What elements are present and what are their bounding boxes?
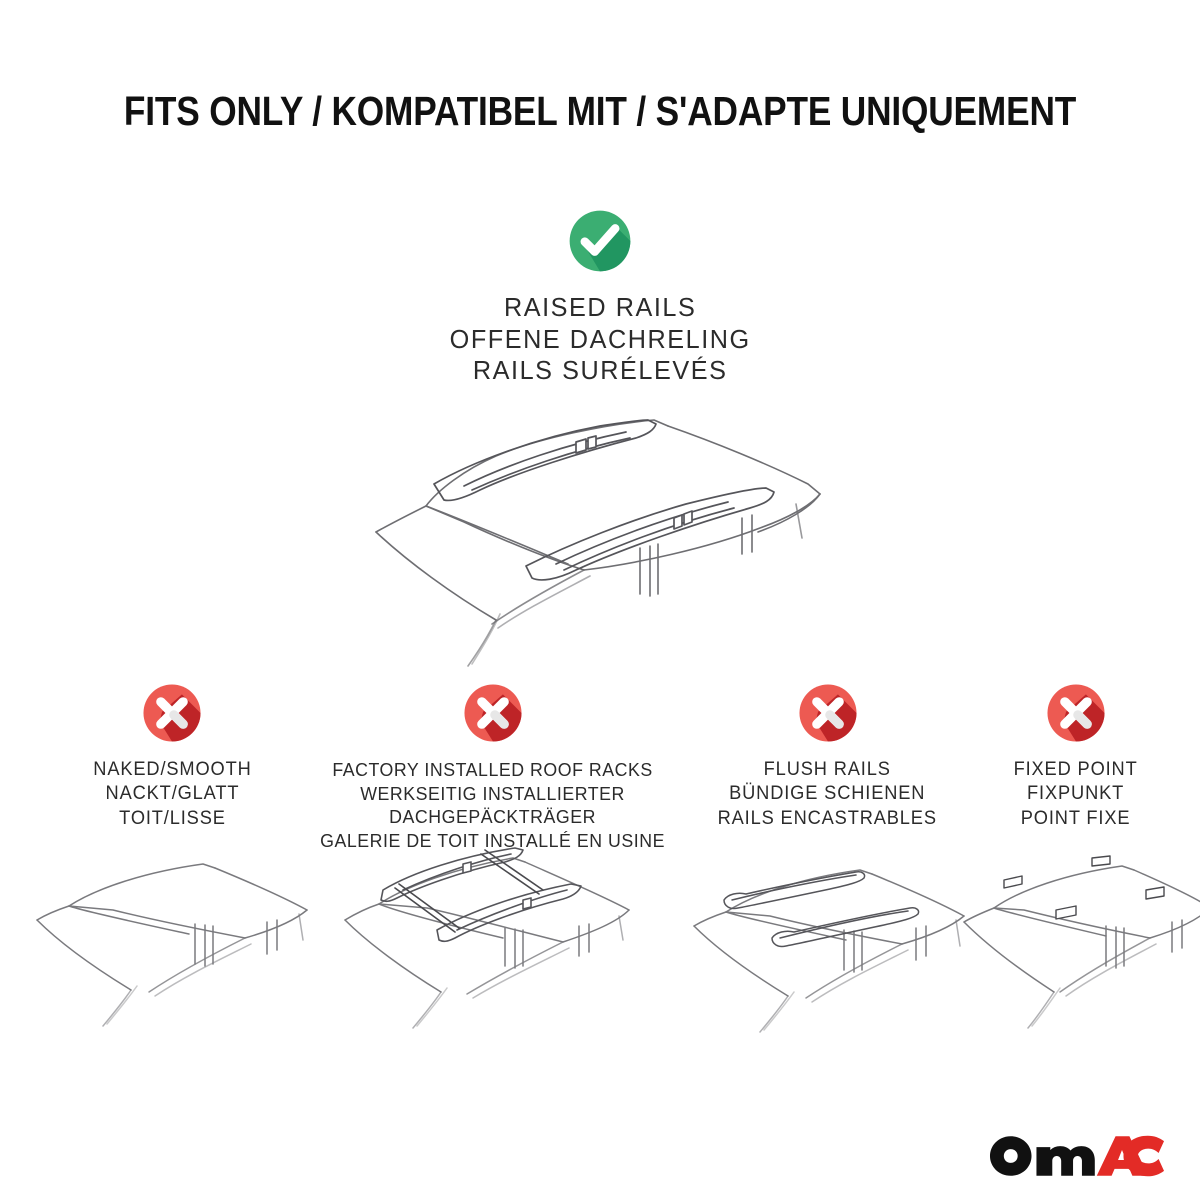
label-de-2: DACHGEPÄCKTRÄGER [320,805,665,829]
compatible-label-fr: RAILS SURÉLEVÉS [449,355,750,387]
label-de-1: WERKSEITIG INSTALLIERTER [320,782,665,806]
incompatible-item-naked-smooth: NAKED/SMOOTH NACKT/GLATT TOIT/LISSE [22,682,322,831]
compatible-label-de: OFFENE DACHRELING [449,324,750,356]
page-title: FITS ONLY / KOMPATIBEL MIT / S'ADAPTE UN… [84,88,1116,135]
car-roof-raised-rails-illustration [368,398,838,668]
compatible-label-en: RAISED RAILS [449,292,750,324]
omac-logo [988,1132,1166,1178]
x-circle-icon [797,682,859,744]
car-roof-naked-smooth-illustration [22,844,322,1044]
compatible-section: RAISED RAILS OFFENE DACHRELING RAILS SUR… [0,208,1200,387]
x-circle-icon [141,682,203,744]
x-circle-icon [1045,682,1107,744]
incompatible-item-flush-rails: FLUSH RAILS BÜNDIGE SCHIENEN RAILS ENCAS… [680,682,975,831]
label-fr: TOIT/LISSE [93,807,251,831]
incompatible-labels-fixed-point: FIXED POINT FIXPUNKT POINT FIXE [1014,758,1138,831]
check-circle-icon [567,208,633,274]
compatible-labels: RAISED RAILS OFFENE DACHRELING RAILS SUR… [449,292,750,387]
x-circle-icon [462,682,524,744]
label-fr: POINT FIXE [1014,807,1138,831]
car-roof-flush-rails-illustration [680,850,975,1045]
label-de: BÜNDIGE SCHIENEN [718,782,937,806]
label-fr: RAILS ENCASTRABLES [718,807,937,831]
label-en: FACTORY INSTALLED ROOF RACKS [320,758,665,782]
incompatible-labels-flush-rails: FLUSH RAILS BÜNDIGE SCHIENEN RAILS ENCAS… [718,758,937,831]
fitment-infographic: FITS ONLY / KOMPATIBEL MIT / S'ADAPTE UN… [0,0,1200,1200]
label-en: FIXED POINT [1014,758,1138,782]
incompatible-section: NAKED/SMOOTH NACKT/GLATT TOIT/LISSE [0,682,1200,1102]
label-de: FIXPUNKT [1014,782,1138,806]
label-en: NAKED/SMOOTH [93,758,251,782]
label-en: FLUSH RAILS [718,758,937,782]
car-roof-factory-racks-illustration [300,832,685,1042]
incompatible-item-factory-racks: FACTORY INSTALLED ROOF RACKS WERKSEITIG … [300,682,685,853]
car-roof-fixed-point-illustration [960,850,1192,1040]
incompatible-item-fixed-point: FIXED POINT FIXPUNKT POINT FIXE [960,682,1192,831]
incompatible-labels-naked-smooth: NAKED/SMOOTH NACKT/GLATT TOIT/LISSE [93,758,251,831]
label-de: NACKT/GLATT [93,782,251,806]
